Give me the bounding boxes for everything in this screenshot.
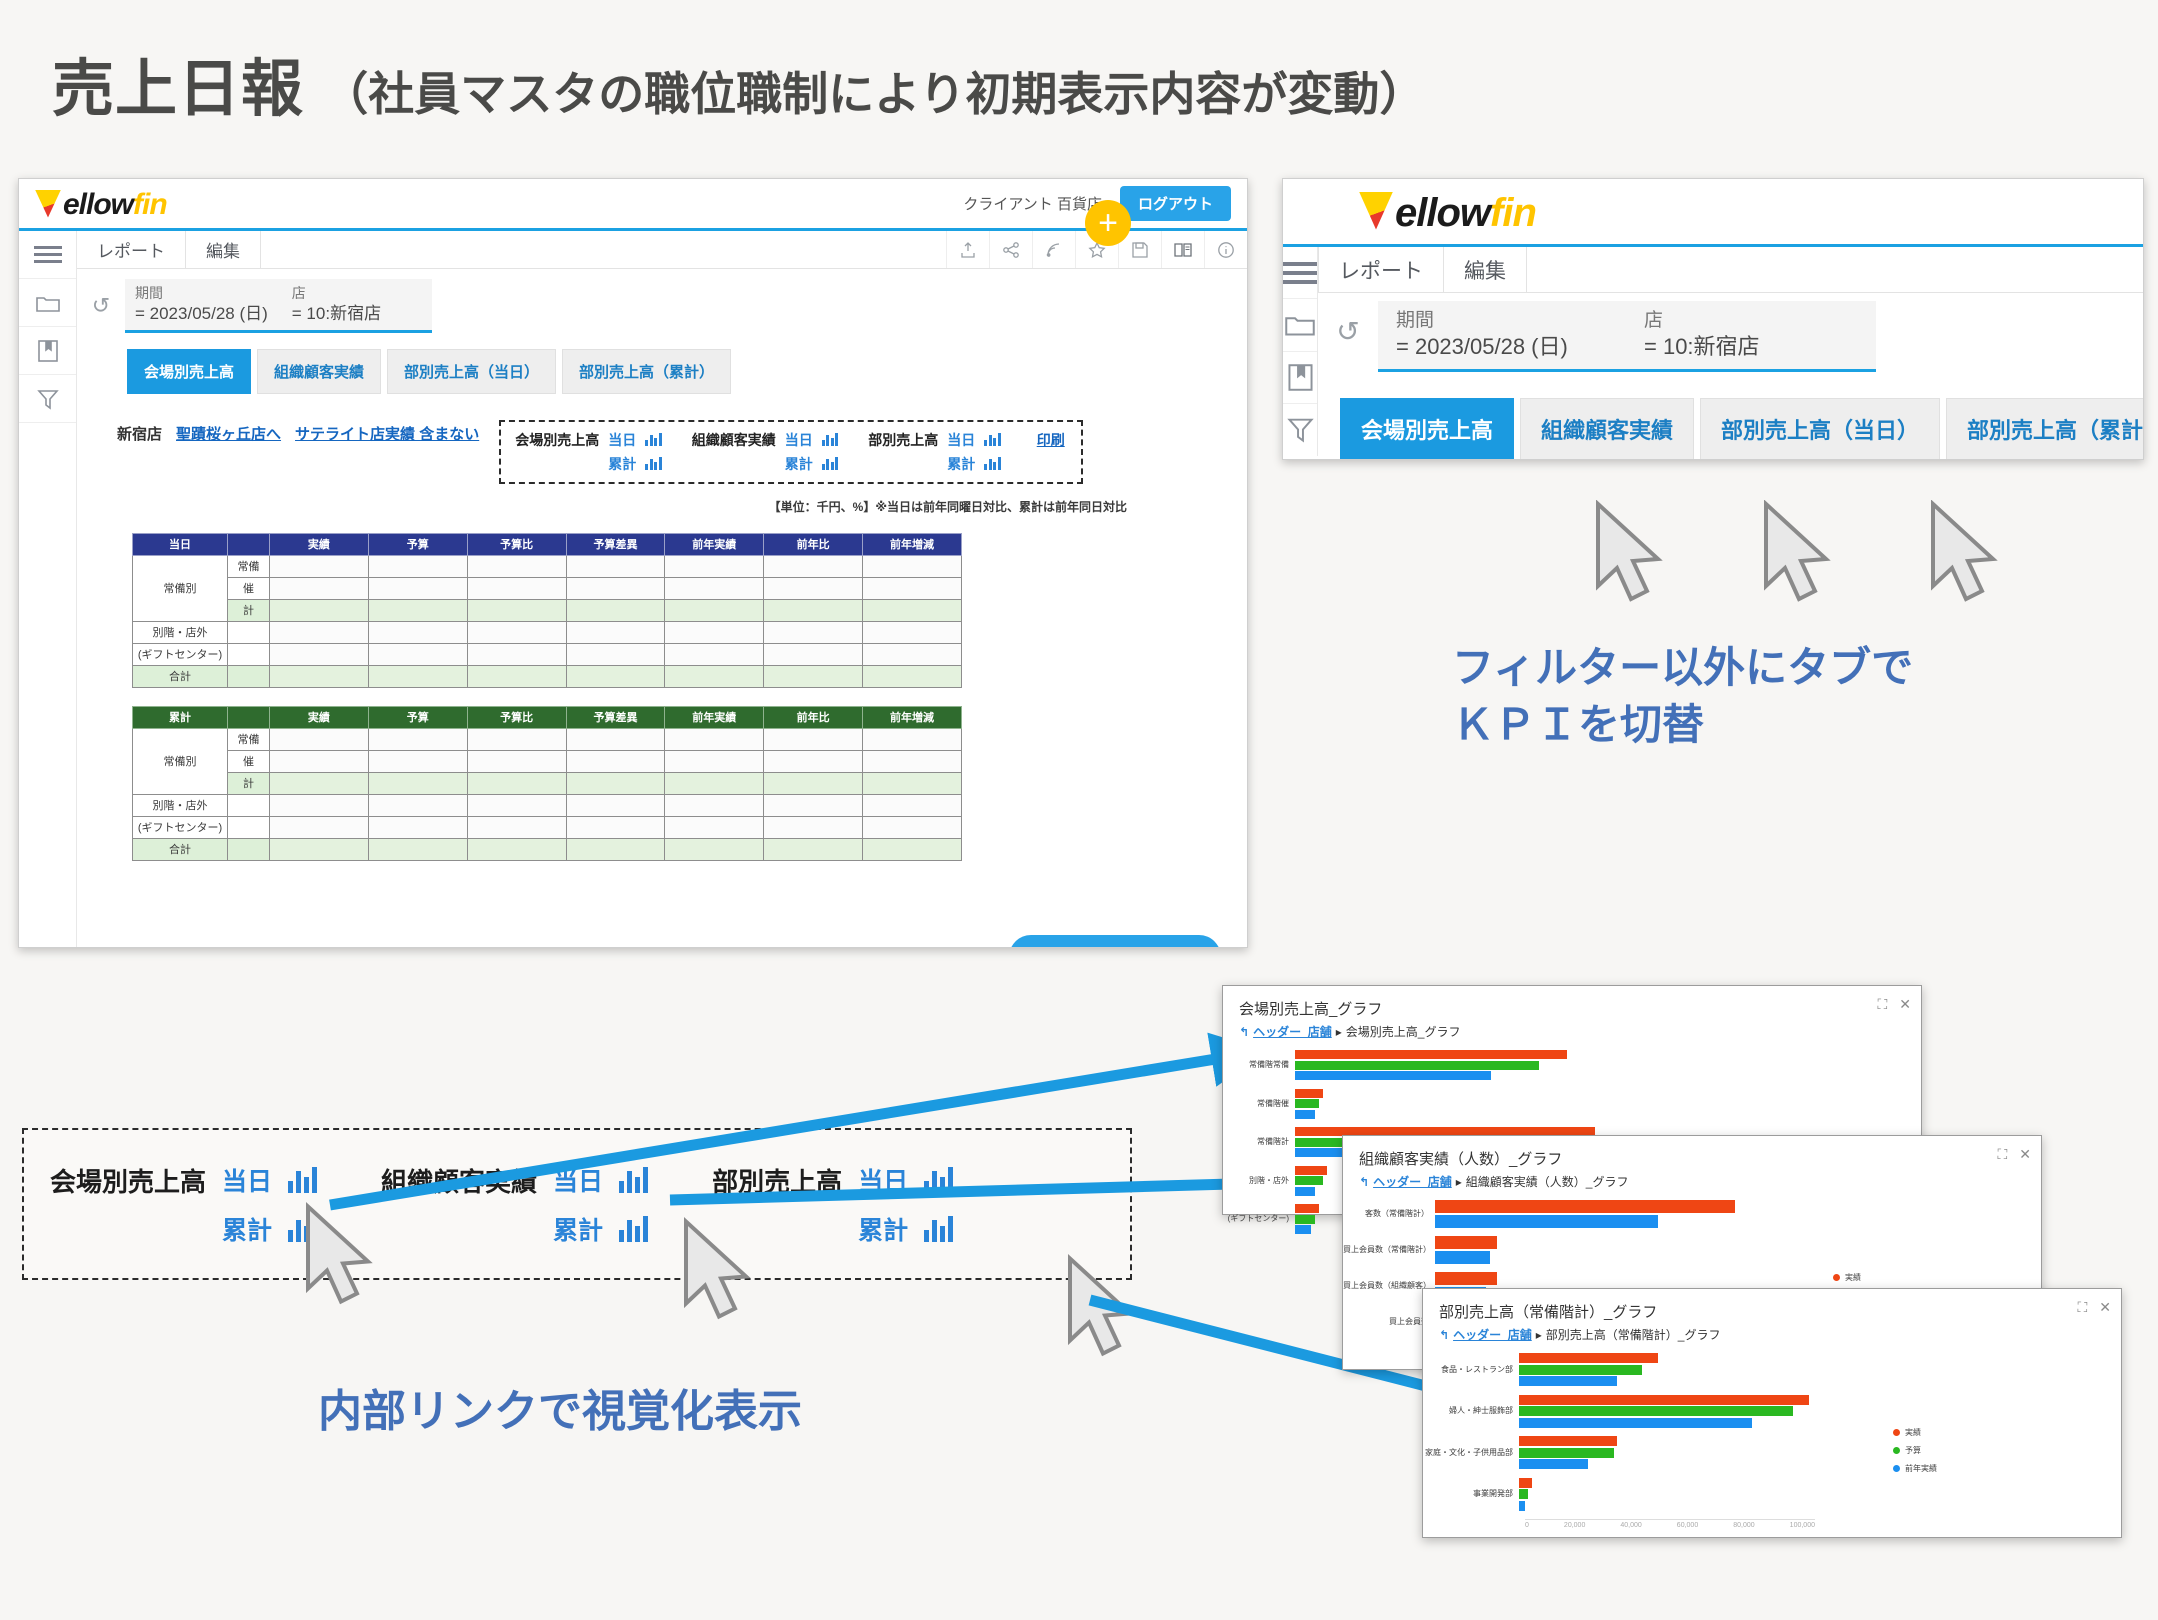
link-bubetsu-cumulative[interactable]: 累計 — [947, 454, 975, 474]
table-cell — [764, 838, 863, 860]
link-group-soshiki: 組織顧客実績 当日 累計 — [692, 430, 839, 474]
filter-period-label: 期間 — [1396, 309, 1608, 333]
breadcrumb-link[interactable]: ヘッダー_店舗 — [1453, 1326, 1532, 1343]
legend-item: 実績 — [1833, 1272, 1877, 1283]
chart-bar — [1519, 1489, 1528, 1499]
mag-link-kaijo-today[interactable]: 当日 — [222, 1162, 272, 1198]
menu-report[interactable]: レポート — [1318, 247, 1444, 292]
tab-kaijo-uriage[interactable]: 会場別売上高 — [127, 349, 251, 394]
bookmark-icon[interactable] — [1283, 352, 1317, 404]
chart-bar — [1435, 1272, 1497, 1285]
table-cell — [665, 750, 764, 772]
filter-store[interactable]: 店 = 10:新宿店 — [1626, 301, 1876, 372]
legend-item: 予算 — [1893, 1445, 1937, 1456]
table-cell — [863, 643, 962, 665]
chart-bar-group — [1435, 1200, 2041, 1229]
expand-icon[interactable]: ⛶ — [1877, 996, 1887, 1013]
tab-bubetsu-ruikei[interactable]: 部別売上高（累計） — [562, 349, 731, 394]
export-icon[interactable] — [946, 231, 989, 268]
table-cell — [368, 772, 467, 794]
main-report-window: ellow fin クライアント 百貨店 ログアウト レポート 編集 — [18, 178, 1248, 948]
yellowfin-logo: ellow fin — [35, 186, 167, 222]
yellowfin-mark-icon — [35, 190, 61, 218]
print-link[interactable]: 印刷 — [1037, 430, 1065, 450]
table-cell — [270, 621, 369, 643]
chart-title: 組織顧客実績（人数）_グラフ — [1343, 1136, 2041, 1171]
th-yosansai: 予算差異 — [566, 533, 665, 555]
th-today-label: 当日 — [133, 533, 228, 555]
table-cell — [368, 555, 467, 577]
back-to-dashboard-button[interactable]: ダッシュボードに戻る — [1009, 935, 1221, 948]
link-group-kaijo: 会場別売上高 当日 累計 — [515, 430, 662, 474]
th-jisseki: 実績 — [270, 533, 369, 555]
row-group-label: (ギフトセンター) — [133, 643, 228, 665]
table-row: 計 — [133, 599, 962, 621]
link-group-kaijo-name: 会場別売上高 — [515, 430, 599, 450]
table-row: (ギフトセンター) — [133, 643, 962, 665]
logo-text-1: ellow — [1395, 191, 1490, 236]
chart-category-label: 別階・店外 — [1223, 1177, 1295, 1186]
table-today: 当日 実績 予算 予算比 予算差異 前年実績 前年比 前年増減 常備別常備催計別… — [132, 533, 962, 688]
table-cell — [665, 838, 764, 860]
table-cell — [764, 772, 863, 794]
menu-edit[interactable]: 編集 — [1444, 247, 1527, 292]
row-sub-label — [228, 794, 270, 816]
chart-icon-bubetsu-today[interactable] — [984, 433, 1001, 446]
table-cell — [368, 838, 467, 860]
filter-icon[interactable] — [19, 375, 76, 423]
row-sub-label — [228, 643, 270, 665]
yellowfin-header: ellow fin クライアント 百貨店 ログアウト — [19, 179, 1247, 231]
chart-bar — [1295, 1061, 1539, 1070]
chart-category-label: 買上会員数（常備階計） — [1343, 1246, 1435, 1255]
zoomed-tab-window: ellow fin レポート 編集 ↺ — [1282, 178, 2144, 460]
chart-bar-group — [1519, 1395, 2121, 1430]
filter-store-value: = 10:新宿店 — [292, 303, 418, 325]
table-cell — [665, 577, 764, 599]
chart-bar — [1519, 1395, 1809, 1405]
table-cell — [368, 816, 467, 838]
table-row: 別階・店外 — [133, 621, 962, 643]
table-cell — [467, 816, 566, 838]
chart-bar — [1519, 1376, 1617, 1386]
table-cell — [467, 794, 566, 816]
table-cell — [270, 643, 369, 665]
chart-x-axis: 020,00040,00060,00080,000100,000 — [1525, 1519, 1815, 1529]
chart-bar — [1435, 1200, 1735, 1213]
add-badge-icon[interactable]: + — [1085, 200, 1131, 246]
row-sub-label: 計 — [228, 772, 270, 794]
logo-text-2: fin — [133, 188, 167, 222]
link-soshiki-cumulative[interactable]: 累計 — [785, 454, 813, 474]
share-icon[interactable] — [989, 231, 1032, 268]
table-cell — [863, 728, 962, 750]
chart-plot-area: 食品・レストラン部婦人・紳士服飾部家庭・文化・子供用品部事業開発部実績予算前年実… — [1423, 1347, 2121, 1529]
chart-category-row: 事業開発部 — [1423, 1478, 2121, 1513]
row-sub-label — [228, 621, 270, 643]
menu-icon[interactable] — [1283, 247, 1317, 299]
mag-link-kaijo-cumulative[interactable]: 累計 — [222, 1211, 272, 1247]
row-group-label: 常備別 — [133, 728, 228, 794]
table-cell — [863, 621, 962, 643]
folder-icon[interactable] — [1283, 299, 1317, 351]
th-jisseki: 実績 — [270, 706, 369, 728]
back-icon[interactable]: ↰ — [1439, 1328, 1449, 1342]
table-row: 計 — [133, 772, 962, 794]
row-sub-label: 催 — [228, 750, 270, 772]
row-group-label: 別階・店外 — [133, 794, 228, 816]
chart-bar — [1519, 1501, 1525, 1511]
expand-icon[interactable]: ⛶ — [1997, 1146, 2007, 1163]
table-cell — [764, 728, 863, 750]
table-cell — [863, 794, 962, 816]
logo-text-1: ellow — [63, 188, 133, 222]
legend-swatch — [1833, 1274, 1840, 1281]
logo-text-2: fin — [1490, 191, 1536, 236]
client-label: クライアント 百貨店 — [963, 193, 1102, 214]
menu-report[interactable]: レポート — [77, 231, 186, 268]
legend-label: 実績 — [1905, 1427, 1921, 1438]
chart-category-row: 食品・レストラン部 — [1423, 1353, 2121, 1388]
table-cell — [863, 577, 962, 599]
chart-bar — [1519, 1436, 1617, 1446]
breadcrumb-current: 会場別売上高_グラフ — [1346, 1023, 1461, 1040]
menu-edit[interactable]: 編集 — [186, 231, 261, 268]
row-sub-label: 常備 — [228, 555, 270, 577]
filter-period-label: 期間 — [135, 285, 268, 303]
row-sub-label: 計 — [228, 599, 270, 621]
table-row: 催 — [133, 750, 962, 772]
left-rail — [19, 231, 77, 948]
chart-bar — [1519, 1406, 1793, 1416]
chart-breadcrumb: ↰ ヘッダー_店舗 ▸ 会場別売上高_グラフ — [1223, 1021, 1921, 1044]
bookmark-icon[interactable] — [19, 327, 76, 375]
chart-category-label: 婦人・紳士服飾部 — [1423, 1407, 1519, 1416]
yellowfin-mark-icon — [1359, 192, 1393, 230]
tab-soshiki-kokyaku[interactable]: 組織顧客実績 — [1520, 398, 1694, 460]
yellowfin-logo: ellow fin — [1359, 188, 1536, 236]
chart-category-label: 食品・レストラン部 — [1423, 1366, 1519, 1375]
table-cell — [764, 621, 863, 643]
chart-icon-kaijo-cumulative[interactable] — [645, 457, 662, 470]
filter-period-value: = 2023/05/28 (日) — [135, 303, 268, 325]
table-cell — [368, 577, 467, 599]
table-cell — [467, 728, 566, 750]
logout-button[interactable]: ログアウト — [1120, 186, 1231, 221]
table-cell — [467, 838, 566, 860]
chart-window-controls: ⛶ ✕ — [2077, 1299, 2111, 1316]
chart-bar — [1295, 1225, 1311, 1234]
table-cell — [665, 794, 764, 816]
th-zennenhi: 前年比 — [764, 533, 863, 555]
table-cell — [467, 665, 566, 687]
table-cell — [368, 750, 467, 772]
breadcrumb-current: 組織顧客実績（人数）_グラフ — [1466, 1173, 1629, 1190]
x-tick-label: 0 — [1525, 1522, 1529, 1529]
annotation-right: フィルター以外にタブで ＫＰＩを切替 — [1452, 640, 1913, 753]
chart-bar — [1435, 1236, 1497, 1249]
kpi-tab-bar: 会場別売上高 組織顧客実績 部別売上高（当日） 部別売上高（累計） — [1340, 398, 2144, 460]
filter-store[interactable]: 店 = 10:新宿店 — [282, 279, 432, 333]
chart-bar — [1295, 1071, 1491, 1080]
chart-category-label: 常備階計 — [1223, 1138, 1295, 1147]
table-cell — [764, 665, 863, 687]
page-title: 売上日報 （社員マスタの職位職制により初期表示内容が変動） — [52, 38, 1425, 128]
link-group-soshiki-name: 組織顧客実績 — [692, 430, 776, 450]
table-cell — [566, 643, 665, 665]
close-icon[interactable]: ✕ — [2019, 1146, 2031, 1163]
table-row: 別階・店外 — [133, 794, 962, 816]
x-tick-label: 20,000 — [1564, 1522, 1585, 1529]
table-cell — [566, 750, 665, 772]
th-yosanhi: 予算比 — [467, 706, 566, 728]
table-row: (ギフトセンター) — [133, 816, 962, 838]
table-cell — [665, 772, 764, 794]
table-cell — [270, 577, 369, 599]
table-cell — [665, 643, 764, 665]
chart-category-row: 常備階常備 — [1223, 1050, 1921, 1082]
th-zennenzogen: 前年増減 — [863, 706, 962, 728]
table-cell — [863, 555, 962, 577]
kpi-tab-bar: 会場別売上高 組織顧客実績 部別売上高（当日） 部別売上高（累計） — [127, 349, 1247, 394]
filter-row: ↺ 期間 = 2023/05/28 (日) 店 = 10:新宿店 — [1318, 293, 2144, 372]
chart-bar-group — [1519, 1478, 2121, 1513]
tab-bubetsu-ruikei[interactable]: 部別売上高（累計） — [1946, 398, 2144, 460]
annotation-right-line2: ＫＰＩを切替 — [1452, 697, 1913, 754]
table-cell — [863, 599, 962, 621]
x-tick-label: 40,000 — [1620, 1522, 1641, 1529]
report-store-name: 新宿店 — [117, 420, 162, 444]
tab-bubetsu-touji[interactable]: 部別売上高（当日） — [387, 349, 556, 394]
th-cum-label: 累計 — [133, 706, 228, 728]
chart-category-label: 常備階常備 — [1223, 1061, 1295, 1070]
chart-bar-group — [1519, 1353, 2121, 1388]
th-cum-sub — [228, 706, 270, 728]
row-sub-label: 常備 — [228, 728, 270, 750]
chart-category-label: 客数（常備階計） — [1343, 1210, 1435, 1219]
legend-swatch — [1893, 1447, 1900, 1454]
chart-category-row: 買上会員数（常備階計） — [1343, 1236, 2041, 1265]
table-cell — [368, 665, 467, 687]
table-cell — [665, 621, 764, 643]
back-icon[interactable]: ↰ — [1239, 1025, 1249, 1039]
zoomed-content: レポート 編集 ↺ 期間 = 2023/05/28 (日) 店 = 10:新宿店… — [1318, 247, 2144, 456]
chart-icon-kaijo-today[interactable] — [645, 433, 662, 446]
chart-bar — [1295, 1204, 1319, 1213]
chart-bar — [1435, 1215, 1658, 1228]
chart-category-row: 婦人・紳士服飾部 — [1423, 1395, 2121, 1430]
page-title-sub: （社員マスタの職位職制により初期表示内容が変動） — [322, 68, 1425, 120]
info-icon[interactable] — [1204, 231, 1247, 268]
chart-bar — [1295, 1099, 1319, 1108]
filter-period[interactable]: 期間 = 2023/05/28 (日) — [125, 279, 282, 333]
chart-icon-soshiki-cumulative[interactable] — [822, 457, 839, 470]
table-cell — [368, 599, 467, 621]
table-cell — [566, 838, 665, 860]
chart-window-controls: ⛶ ✕ — [1997, 1146, 2031, 1163]
chart-icon-soshiki-today[interactable] — [822, 433, 839, 446]
table-cell — [863, 838, 962, 860]
yellowfin-header: ellow fin — [1283, 179, 2143, 247]
breadcrumb-sep: ▸ — [1456, 1175, 1462, 1189]
table-cell — [764, 577, 863, 599]
row-sub-label: 催 — [228, 577, 270, 599]
chart-bar — [1295, 1176, 1323, 1185]
th-yosansai: 予算差異 — [566, 706, 665, 728]
main-window-body: レポート 編集 ↺ 期間 = 2023/05/28 (日) — [19, 231, 1247, 948]
filter-period-value: = 2023/05/28 (日) — [1396, 333, 1608, 362]
table-cell — [764, 750, 863, 772]
row-sub-label — [228, 665, 270, 687]
chart-title: 会場別売上高_グラフ — [1223, 986, 1921, 1021]
table-cell — [764, 599, 863, 621]
table-cell — [467, 750, 566, 772]
chart-window-bubetsu: ⛶ ✕ 部別売上高（常備階計）_グラフ ↰ ヘッダー_店舗 ▸ 部別売上高（常備… — [1422, 1288, 2122, 1538]
legend-label: 予算 — [1905, 1445, 1921, 1456]
link-group-bubetsu: 部別売上高 当日 累計 — [868, 430, 1001, 474]
th-zennenzogen: 前年増減 — [863, 533, 962, 555]
table-cell — [566, 665, 665, 687]
link-satellite-exclude[interactable]: サテライト店実績 含まない — [295, 420, 479, 444]
chart-category-label: (ギフトセンター) — [1223, 1215, 1295, 1224]
table-cell — [270, 750, 369, 772]
breadcrumb-link[interactable]: ヘッダー_店舗 — [1253, 1023, 1332, 1040]
filter-period[interactable]: 期間 = 2023/05/28 (日) — [1378, 301, 1626, 372]
chart-legend: 実績予算前年実績 — [1893, 1427, 1937, 1474]
close-icon[interactable]: ✕ — [2099, 1299, 2111, 1316]
annotation-bottom: 内部リンクで視覚化表示 — [318, 1382, 802, 1441]
table-cell — [764, 794, 863, 816]
chart-bar — [1519, 1478, 1532, 1488]
x-tick-label: 80,000 — [1733, 1522, 1754, 1529]
tab-soshiki-kokyaku[interactable]: 組織顧客実績 — [257, 349, 381, 394]
close-icon[interactable]: ✕ — [1899, 996, 1911, 1013]
tab-kaijo-uriage[interactable]: 会場別売上高 — [1340, 398, 1514, 460]
table-cell — [566, 772, 665, 794]
chart-category-label: 常備階催 — [1223, 1100, 1295, 1109]
filter-store-value: = 10:新宿店 — [1644, 333, 1858, 362]
th-zennenhi: 前年比 — [764, 706, 863, 728]
breadcrumb-sep: ▸ — [1536, 1328, 1542, 1342]
table-cell — [566, 816, 665, 838]
tab-bubetsu-touji[interactable]: 部別売上高（当日） — [1700, 398, 1940, 460]
chart-bar — [1295, 1187, 1315, 1196]
table-row: 合計 — [133, 665, 962, 687]
chart-breadcrumb: ↰ ヘッダー_店舗 ▸ 組織顧客実績（人数）_グラフ — [1343, 1171, 2041, 1194]
left-rail — [1283, 247, 1318, 456]
link-kaijo-today[interactable]: 当日 — [608, 430, 636, 450]
chart-bar — [1295, 1110, 1315, 1119]
row-group-label: (ギフトセンター) — [133, 816, 228, 838]
page-title-main: 売上日報 — [52, 55, 304, 124]
table-cell — [467, 621, 566, 643]
table-cell — [467, 577, 566, 599]
table-cell — [270, 728, 369, 750]
undo-icon[interactable]: ↺ — [1318, 301, 1378, 348]
table-cell — [566, 621, 665, 643]
table-cell — [566, 555, 665, 577]
folder-icon[interactable] — [19, 279, 76, 327]
row-group-label: 別階・店外 — [133, 621, 228, 643]
breadcrumb-link[interactable]: ヘッダー_店舗 — [1373, 1173, 1452, 1190]
back-icon[interactable]: ↰ — [1359, 1175, 1369, 1189]
table-cell — [270, 794, 369, 816]
report-pane: レポート 編集 ↺ 期間 = 2023/05/28 (日) — [77, 231, 1247, 948]
table-cell — [368, 728, 467, 750]
breadcrumb-current: 部別売上高（常備階計）_グラフ — [1546, 1326, 1721, 1343]
filter-store-label: 店 — [1644, 309, 1858, 333]
table-cell — [467, 643, 566, 665]
chart-bar-group — [1295, 1089, 1921, 1121]
mag-link-group-kaijo: 会場別売上高 当日 累計 — [50, 1162, 317, 1247]
table-header-row: 当日 実績 予算 予算比 予算差異 前年実績 前年比 前年増減 — [133, 533, 962, 555]
table-cell — [270, 838, 369, 860]
table-cell — [467, 599, 566, 621]
chart-bar-group — [1295, 1050, 1921, 1082]
chart-icon-bubetsu-cumulative[interactable] — [984, 457, 1001, 470]
breadcrumb-sep: ▸ — [1336, 1025, 1342, 1039]
story-icon[interactable] — [1161, 231, 1204, 268]
chart-bar — [1519, 1448, 1614, 1458]
table-cell — [665, 816, 764, 838]
table-row: 常備別常備 — [133, 555, 962, 577]
chart-category-row: 家庭・文化・子供用品部 — [1423, 1436, 2121, 1471]
broadcast-icon[interactable] — [1032, 231, 1075, 268]
table-cell — [368, 643, 467, 665]
table-cell — [566, 794, 665, 816]
link-kaijo-cumulative[interactable]: 累計 — [608, 454, 636, 474]
table-cell — [270, 665, 369, 687]
table-cell — [863, 750, 962, 772]
undo-icon[interactable]: ↺ — [77, 279, 125, 319]
chart-bar — [1519, 1459, 1588, 1469]
chart-category-label: 事業開発部 — [1423, 1490, 1519, 1499]
chart-category-label: 家庭・文化・子供用品部 — [1423, 1449, 1519, 1458]
table-cell — [764, 816, 863, 838]
chart-bar — [1435, 1251, 1490, 1264]
chart-window-controls: ⛶ ✕ — [1877, 996, 1911, 1013]
table-cell — [566, 577, 665, 599]
table-cell — [566, 599, 665, 621]
link-soshiki-today[interactable]: 当日 — [785, 430, 813, 450]
menu-icon[interactable] — [19, 231, 76, 279]
th-yosan: 予算 — [368, 533, 467, 555]
row-group-label: 合計 — [133, 838, 228, 860]
expand-icon[interactable]: ⛶ — [2077, 1299, 2087, 1316]
th-yosan: 予算 — [368, 706, 467, 728]
report-menubar: レポート 編集 — [77, 231, 1247, 269]
table-cell — [665, 599, 764, 621]
link-seiseki-store[interactable]: 聖蹟桜ヶ丘店へ — [176, 420, 281, 444]
chart-title: 部別売上高（常備階計）_グラフ — [1423, 1289, 2121, 1324]
unit-note: 【単位：千円、%】※当日は前年同曜日対比、累計は前年同日対比 — [77, 484, 1247, 515]
table-header-row: 累計 実績 予算 予算比 予算差異 前年実績 前年比 前年増減 — [133, 706, 962, 728]
annotation-right-line1: フィルター以外にタブで — [1452, 640, 1913, 697]
table-row: 催 — [133, 577, 962, 599]
legend-swatch — [1893, 1465, 1900, 1472]
row-group-label: 合計 — [133, 665, 228, 687]
legend-swatch — [1893, 1429, 1900, 1436]
row-sub-label — [228, 816, 270, 838]
chart-bar — [1295, 1089, 1323, 1098]
report-menubar: レポート 編集 — [1318, 247, 2144, 293]
table-cell — [764, 643, 863, 665]
th-yosanhi: 予算比 — [467, 533, 566, 555]
chart-bar — [1295, 1215, 1315, 1224]
table-cell — [863, 816, 962, 838]
link-bubetsu-today[interactable]: 当日 — [947, 430, 975, 450]
filter-icon[interactable] — [1283, 404, 1317, 456]
